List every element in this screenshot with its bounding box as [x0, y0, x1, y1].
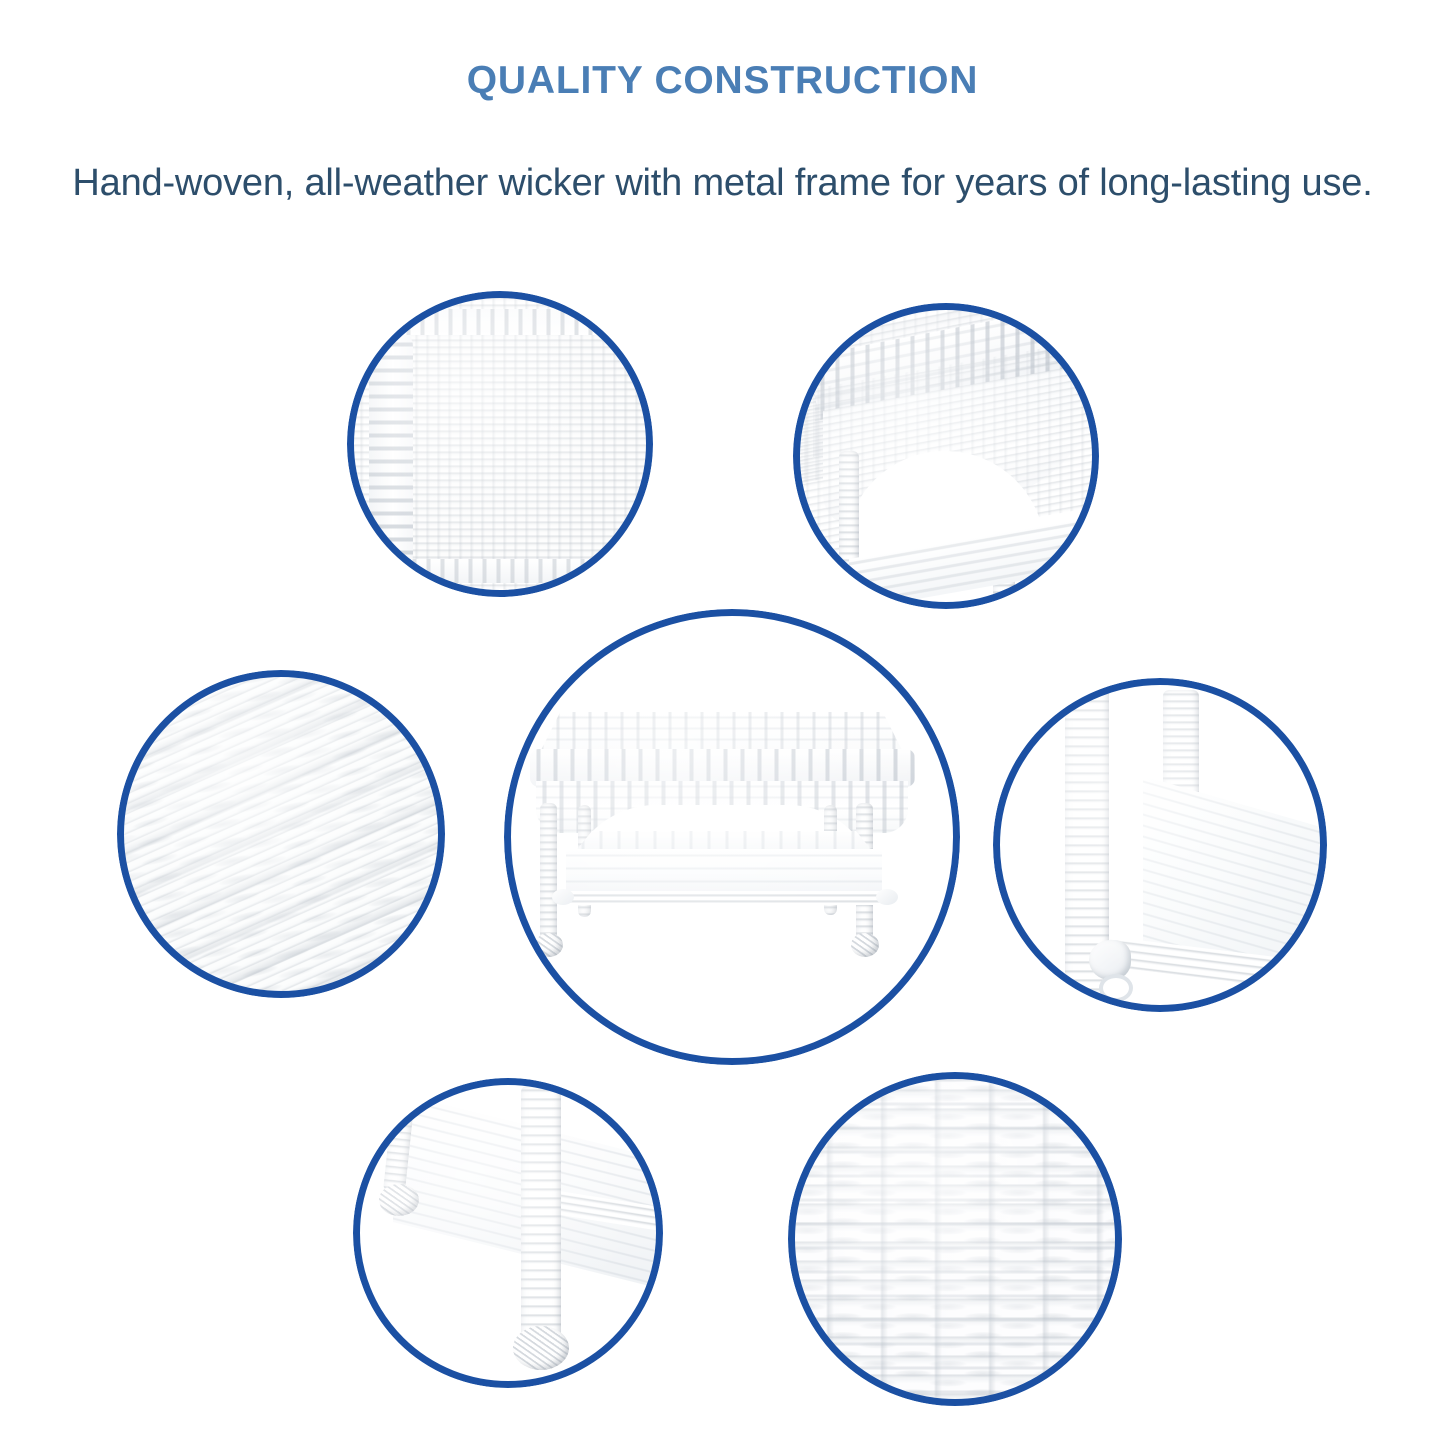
- leg-joint-image: [993, 678, 1327, 1012]
- tight-weave-image: [788, 1072, 1122, 1406]
- page-subtitle: Hand-woven, all-weather wicker with meta…: [0, 160, 1445, 208]
- callout-full-table: [504, 609, 960, 1065]
- page-title: QUALITY CONSTRUCTION: [0, 60, 1445, 103]
- table-edge-image: [793, 303, 1099, 609]
- callout-foot-shelf: [353, 1078, 663, 1388]
- callout-table-edge: [793, 303, 1099, 609]
- full-table-image: [504, 609, 960, 1065]
- callout-tabletop-weave: [347, 291, 653, 597]
- callout-leg-joint: [993, 678, 1327, 1012]
- callout-tight-weave: [788, 1072, 1122, 1406]
- tabletop-weave-image: [347, 291, 653, 597]
- foot-shelf-image: [353, 1078, 663, 1388]
- diagonal-weave-image: [117, 670, 445, 998]
- callout-diagonal-weave: [117, 670, 445, 998]
